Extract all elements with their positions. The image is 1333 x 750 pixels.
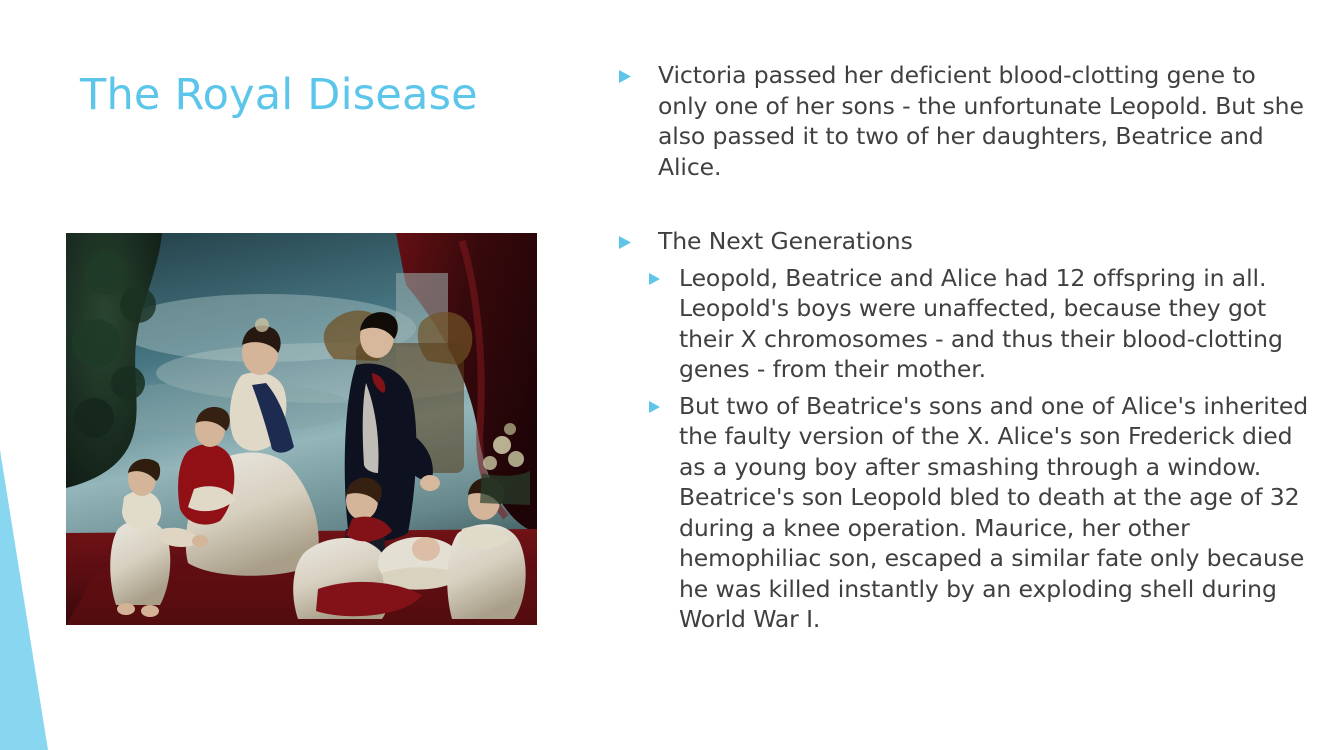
- triangle-bullet-icon: [618, 235, 632, 251]
- bullet-text: Victoria passed her deficient blood-clot…: [658, 60, 1308, 182]
- triangle-bullet-icon: [648, 400, 661, 415]
- bullet-item: The Next Generations: [618, 226, 1308, 257]
- sub-bullet-item: Leopold, Beatrice and Alice had 12 offsp…: [618, 263, 1308, 385]
- bullet-text: The Next Generations: [658, 226, 1308, 257]
- body-content: Victoria passed her deficient blood-clot…: [618, 60, 1308, 635]
- painting-illustration: [66, 233, 537, 625]
- page-title: The Royal Disease: [80, 71, 550, 119]
- sub-bullet-item: But two of Beatrice's sons and one of Al…: [618, 391, 1308, 635]
- slide-canvas: The Royal Disease: [0, 0, 1333, 750]
- paragraph-spacer: [618, 182, 1308, 226]
- bullet-item: Victoria passed her deficient blood-clot…: [618, 60, 1308, 182]
- royal-family-painting: [66, 233, 537, 625]
- triangle-bullet-icon: [648, 272, 661, 287]
- sub-bullet-text: But two of Beatrice's sons and one of Al…: [679, 391, 1308, 635]
- triangle-bullet-icon: [618, 69, 632, 85]
- sub-bullet-text: Leopold, Beatrice and Alice had 12 offsp…: [679, 263, 1308, 385]
